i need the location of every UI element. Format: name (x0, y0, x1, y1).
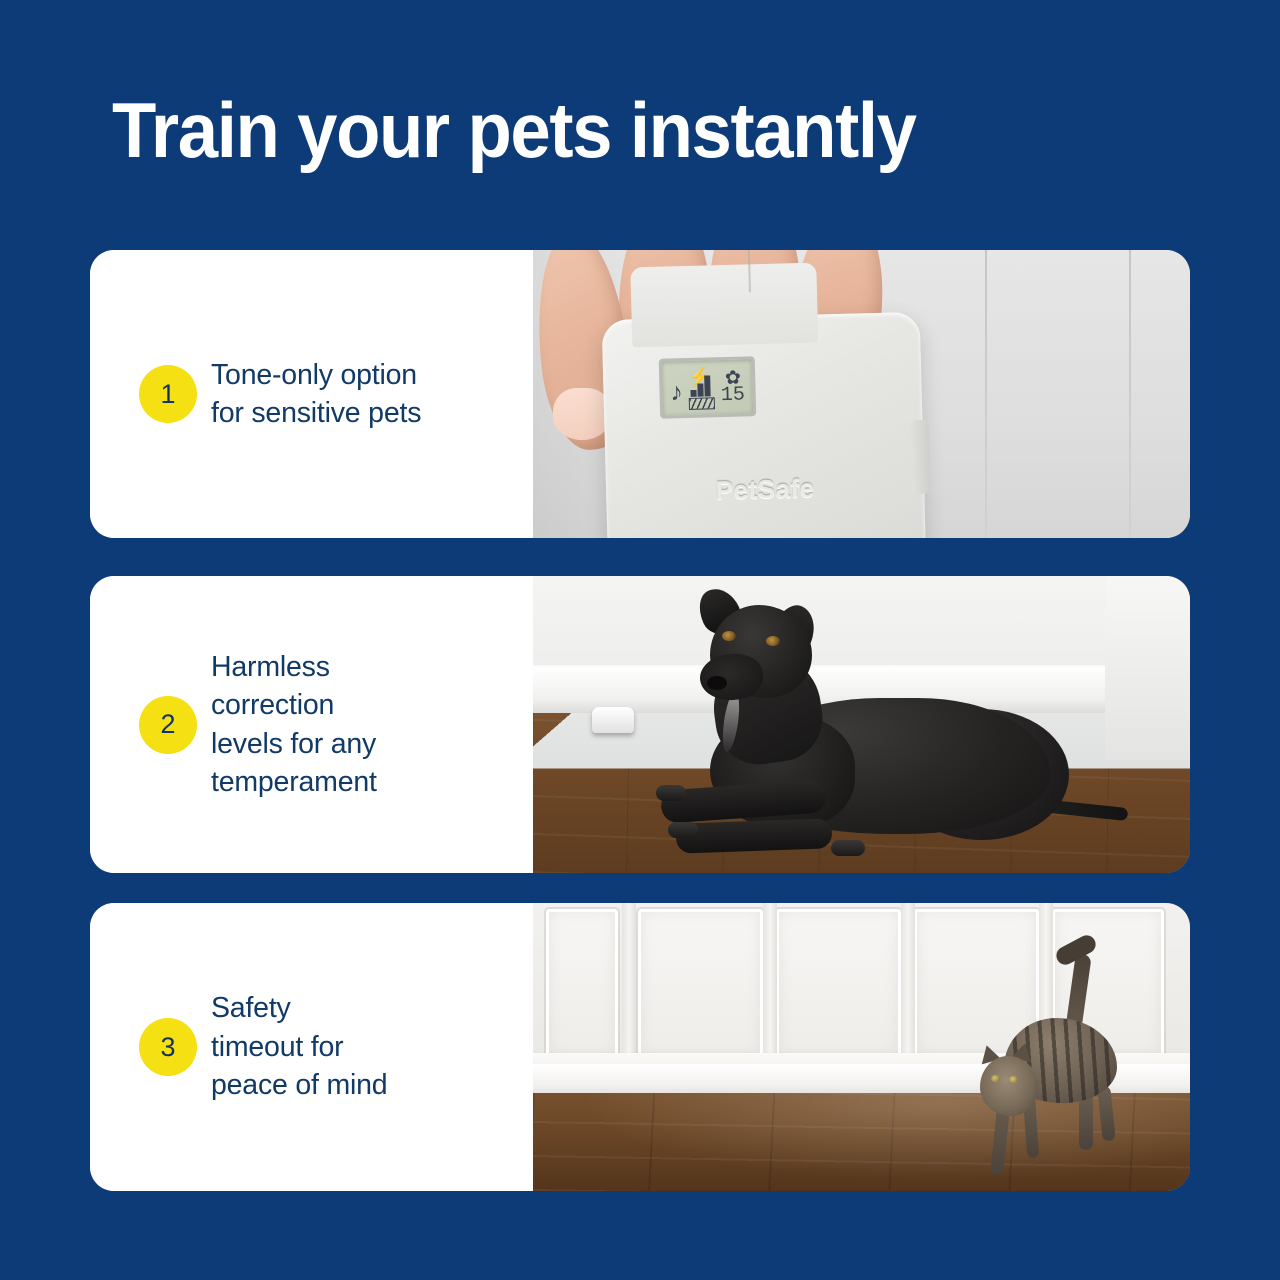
black-dog-lying-on-floor-photo (533, 576, 1190, 873)
step-badge-3: 3 (139, 1018, 197, 1076)
remote-lcd-screen: ♪ ⚡ ✿ 15 (659, 356, 757, 418)
step-badge-1: 1 (139, 365, 197, 423)
dog-eye (722, 631, 736, 641)
remote-top-housing (630, 263, 818, 348)
step-badge-2: 2 (139, 696, 197, 754)
tabby-cat-walking-by-cabinets-photo (533, 903, 1190, 1191)
feature-card-2-text: 2 Harmless correction levels for any tem… (90, 576, 533, 873)
remote-side-button (910, 420, 930, 494)
hand-holding-remote-photo: ♪ ⚡ ✿ 15 PetSafe (533, 250, 1190, 538)
cabinet-panel (638, 909, 763, 1059)
cat-eye (991, 1075, 1000, 1082)
feature-card-3-label: Safety timeout for peace of mind (211, 989, 387, 1105)
training-pod-device (592, 707, 634, 733)
feature-card-3-text: 3 Safety timeout for peace of mind (90, 903, 533, 1191)
lcd-level-value: 15 (721, 385, 746, 406)
cat-illustration (967, 966, 1138, 1179)
paw-level-group: ✿ 15 (720, 368, 745, 406)
feature-card-2: 2 Harmless correction levels for any tem… (90, 576, 1190, 873)
dog-paw (656, 785, 686, 801)
wall-seam-line (1129, 250, 1131, 538)
dog-eye (766, 636, 780, 646)
page-title: Train your pets instantly (112, 84, 1116, 176)
feature-card-1-label: Tone-only option for sensitive pets (211, 356, 421, 433)
dog-paw (831, 840, 865, 856)
feature-card-1-text: 1 Tone-only option for sensitive pets (90, 250, 533, 538)
tone-note-icon: ♪ (670, 380, 683, 405)
dog-nose (707, 676, 727, 690)
remote-control-device: ♪ ⚡ ✿ 15 PetSafe (602, 312, 927, 538)
cat-hind-leg (1097, 1085, 1116, 1141)
wall-seam-line (985, 250, 987, 538)
correction-level-icon: ⚡ (688, 367, 716, 408)
feature-card-2-label: Harmless correction levels for any tempe… (211, 648, 377, 802)
cat-head (980, 1056, 1038, 1116)
level-hatch-icon (688, 397, 714, 410)
cabinet-panel (776, 909, 901, 1059)
dog-illustration (651, 594, 1137, 867)
feature-card-1: 1 Tone-only option for sensitive pets ♪ … (90, 250, 1190, 538)
level-bars-icon (690, 375, 715, 397)
dog-front-leg (675, 818, 832, 853)
feature-card-3: 3 Safety timeout for peace of mind (90, 903, 1190, 1191)
petsafe-brand-logo: PetSafe (715, 473, 815, 507)
thumbnail (553, 388, 611, 440)
cabinet-panel (546, 909, 618, 1059)
dog-paw (668, 822, 698, 838)
